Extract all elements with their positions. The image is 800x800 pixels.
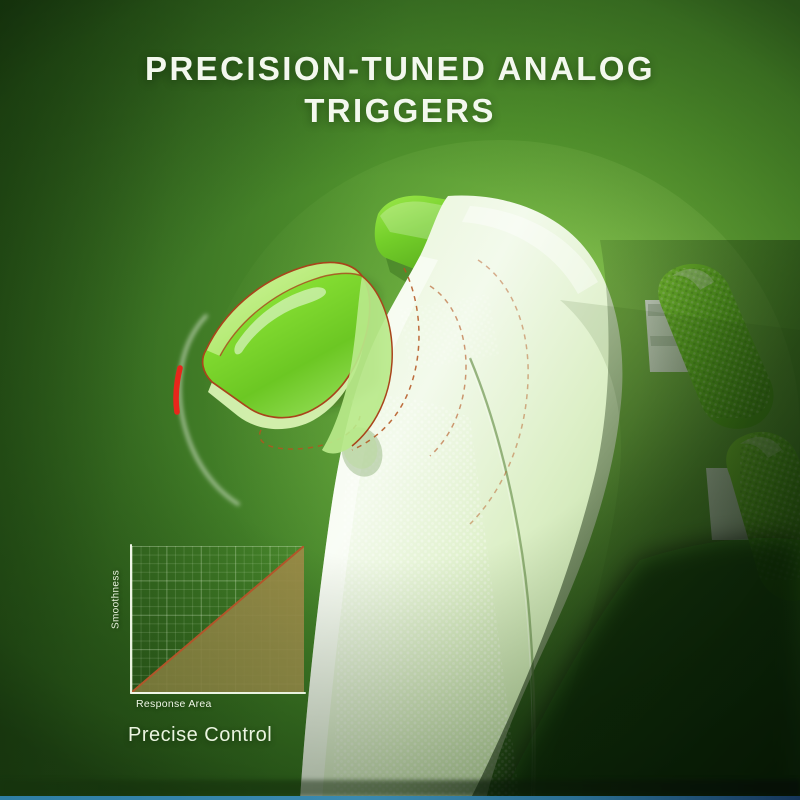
- product-banner: PRECISION-TUNED ANALOG TRIGGERS Smoot: [0, 0, 800, 800]
- chart-x-axis-label: Response Area: [136, 698, 212, 710]
- chart-series-area: [132, 546, 304, 692]
- chart-x-axis: [130, 692, 306, 694]
- headline-line-2: TRIGGERS: [0, 90, 800, 132]
- headline-line-1: PRECISION-TUNED ANALOG: [0, 48, 800, 90]
- response-chart: Smoothness Response Area Precise Control: [104, 536, 319, 751]
- chart-y-axis-label: Smoothness: [111, 552, 122, 648]
- chart-y-axis: [130, 544, 132, 694]
- bottom-shadow: [0, 780, 800, 796]
- chart-caption: Precise Control: [128, 724, 272, 747]
- bottom-accent-strip: [0, 796, 800, 800]
- chart-plot-area: [132, 546, 304, 692]
- page-title: PRECISION-TUNED ANALOG TRIGGERS: [0, 48, 800, 132]
